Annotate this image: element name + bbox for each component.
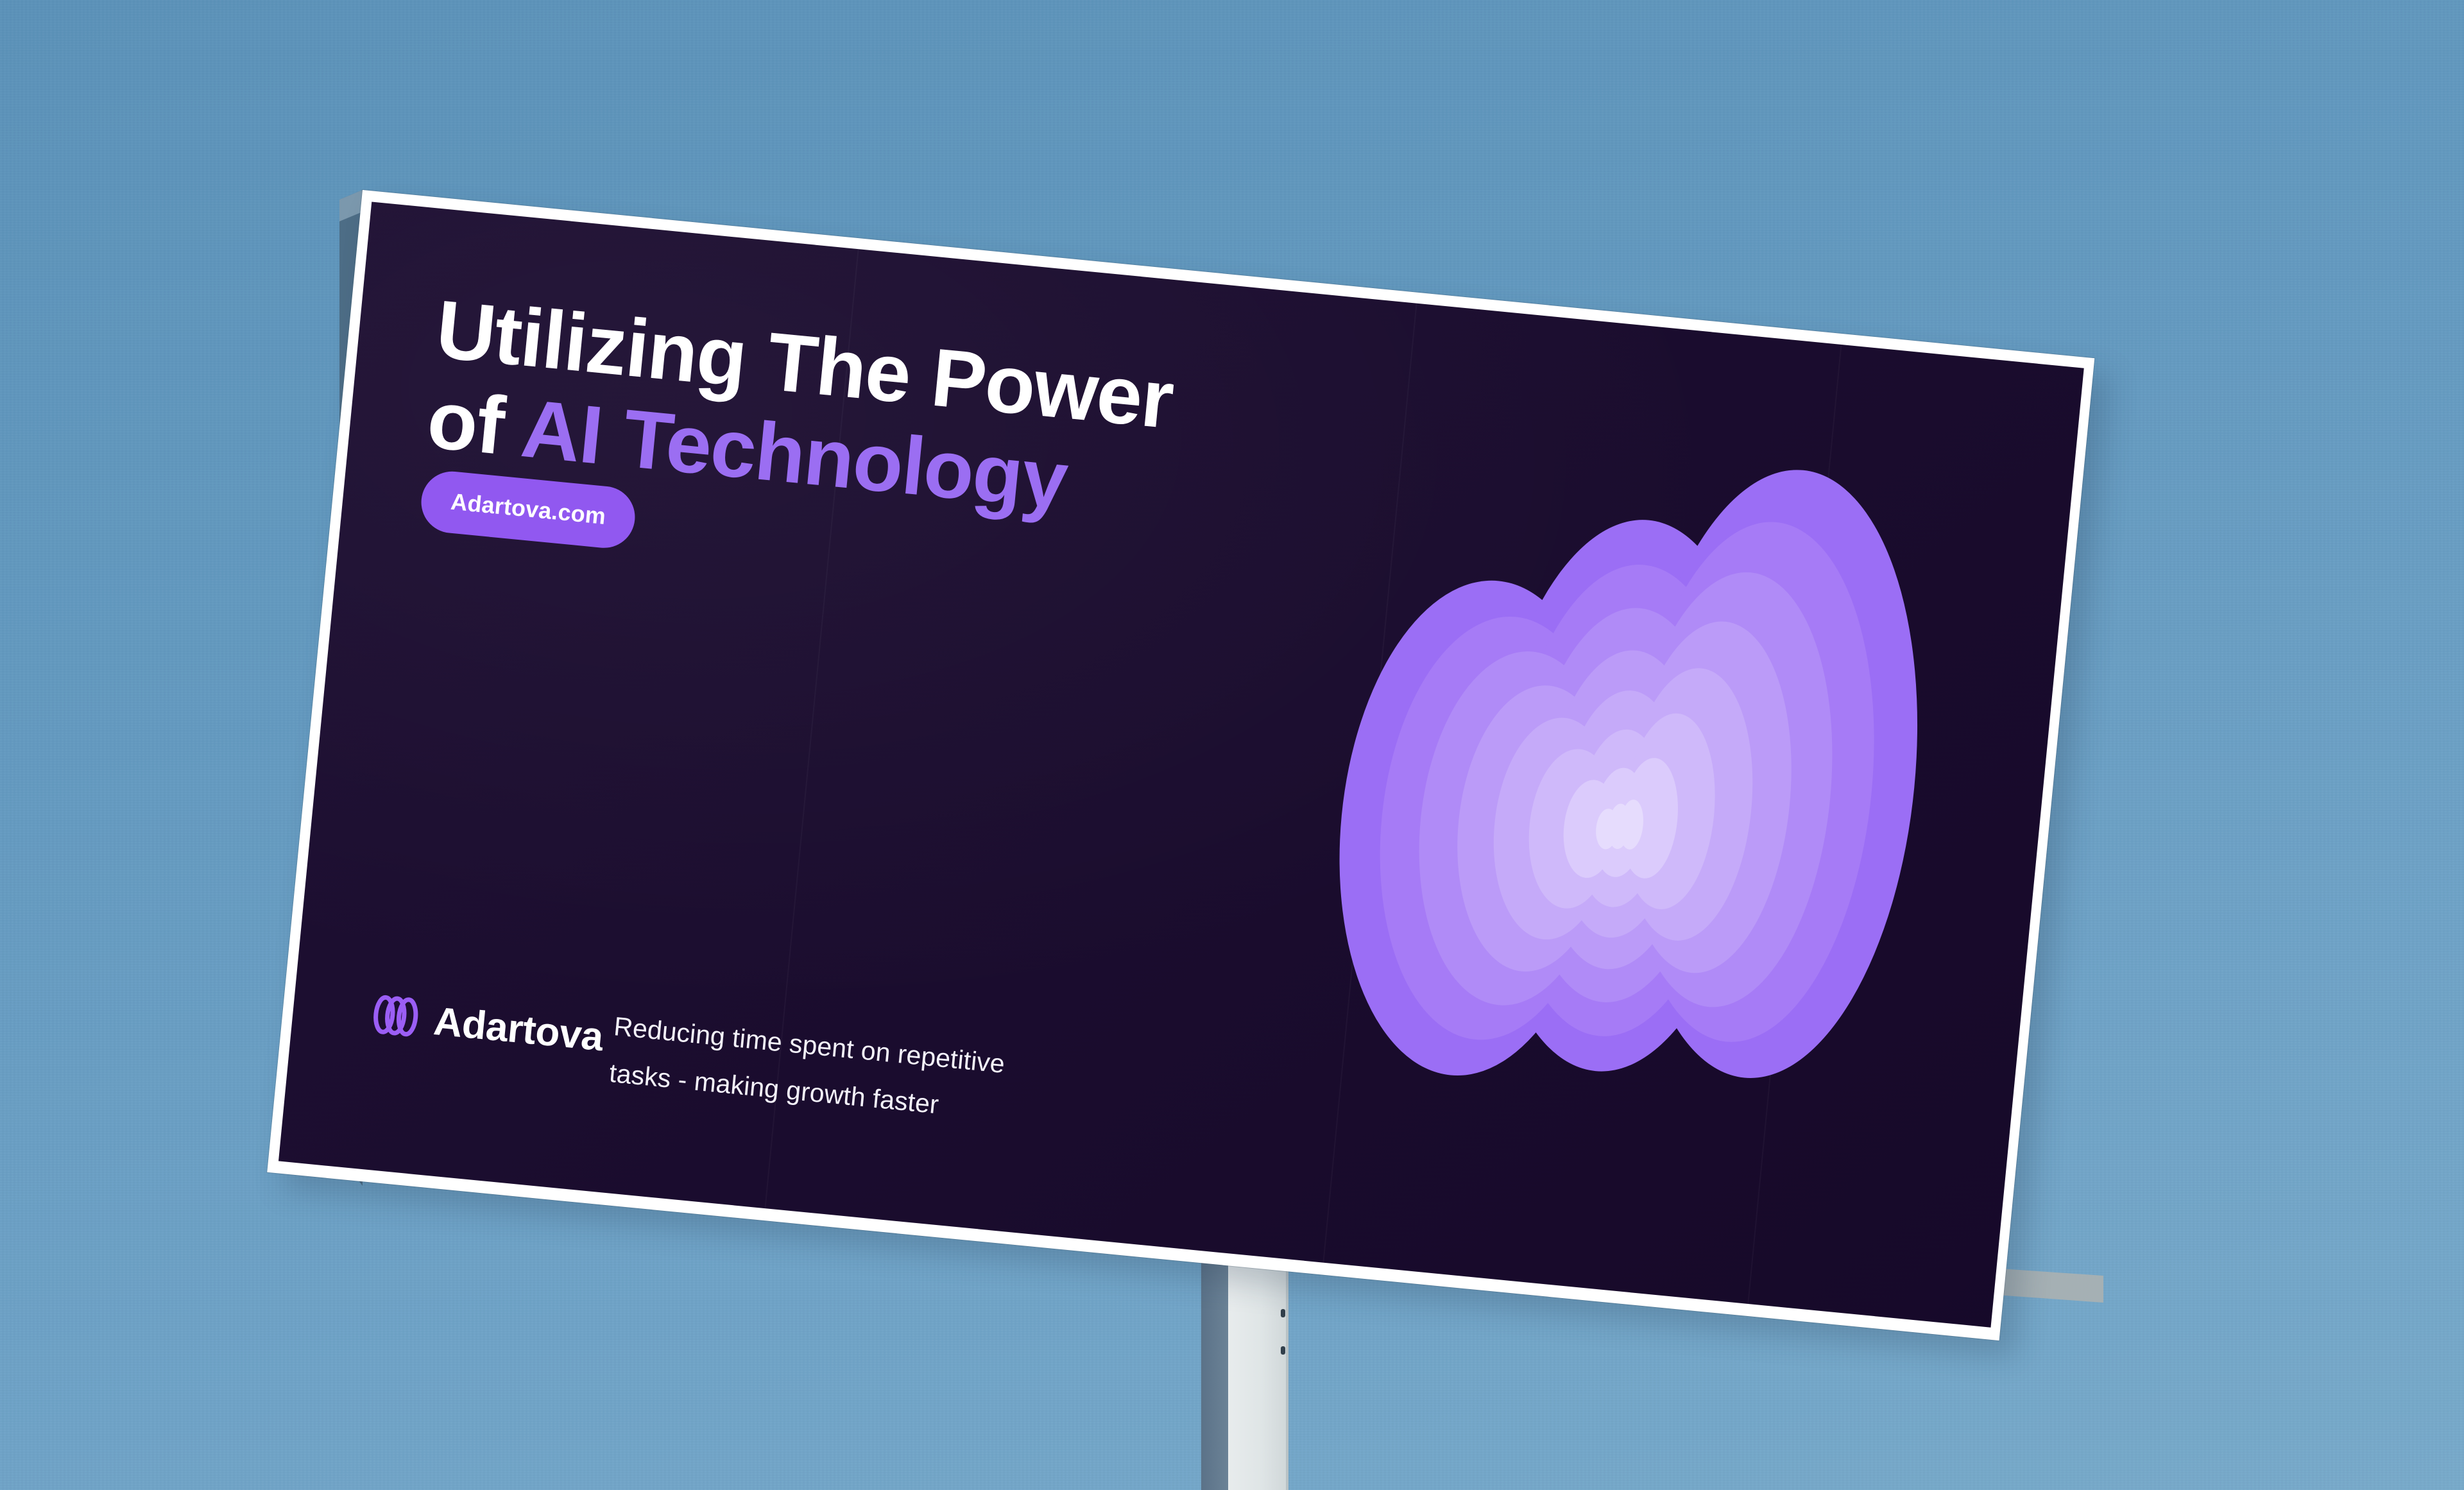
brand-logo-lockup: Adartova (370, 993, 605, 1061)
brand-wordmark: Adartova (432, 998, 605, 1060)
billboard-panel[interactable]: Utilizing The Power of AI Technology Ada… (267, 190, 2094, 1340)
billboard-tagline: Reducing time spent on repetitive tasks … (607, 1003, 1165, 1149)
cta-label: Adartova.com (450, 488, 607, 529)
billboard-artwork-canvas: Utilizing The Power of AI Technology Ada… (278, 201, 2084, 1327)
adartova-loops-logo-mark-icon (370, 993, 422, 1042)
pole-bolt-icon (1281, 1346, 1285, 1355)
headline-line-2-prefix: of (424, 373, 526, 474)
pole-bolt-icon (1281, 1309, 1285, 1317)
